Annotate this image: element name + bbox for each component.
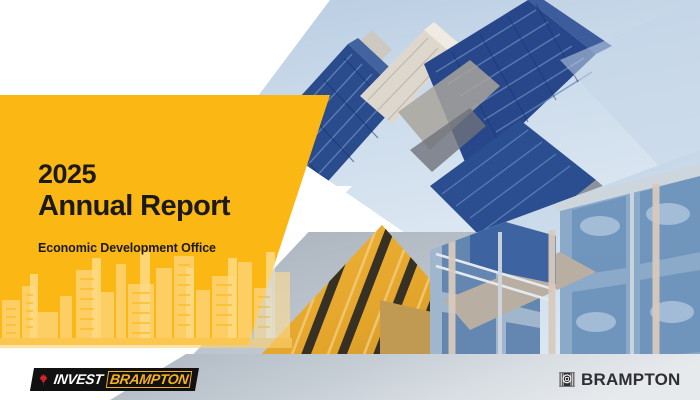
city-of-brampton-logo[interactable]: BRAMPTON [558, 371, 681, 388]
invest-brampton-logo-inner: INVEST BRAMPTON [37, 371, 191, 388]
report-subtitle: Economic Development Office [38, 241, 298, 255]
page-title: Annual Report [38, 191, 298, 223]
cover-text-block: 2025 Annual Report Economic Development … [38, 160, 298, 255]
brampton-crest-icon [558, 371, 576, 388]
maple-leaf-icon [37, 373, 50, 386]
report-year: 2025 [38, 160, 298, 189]
invest-brampton-logo[interactable]: INVEST BRAMPTON [30, 368, 199, 391]
brampton-wordmark: BRAMPTON [581, 371, 681, 388]
brampton-word: BRAMPTON [106, 371, 193, 388]
invest-word: INVEST [53, 371, 104, 387]
annual-report-cover: 2025 Annual Report Economic Development … [0, 0, 700, 400]
